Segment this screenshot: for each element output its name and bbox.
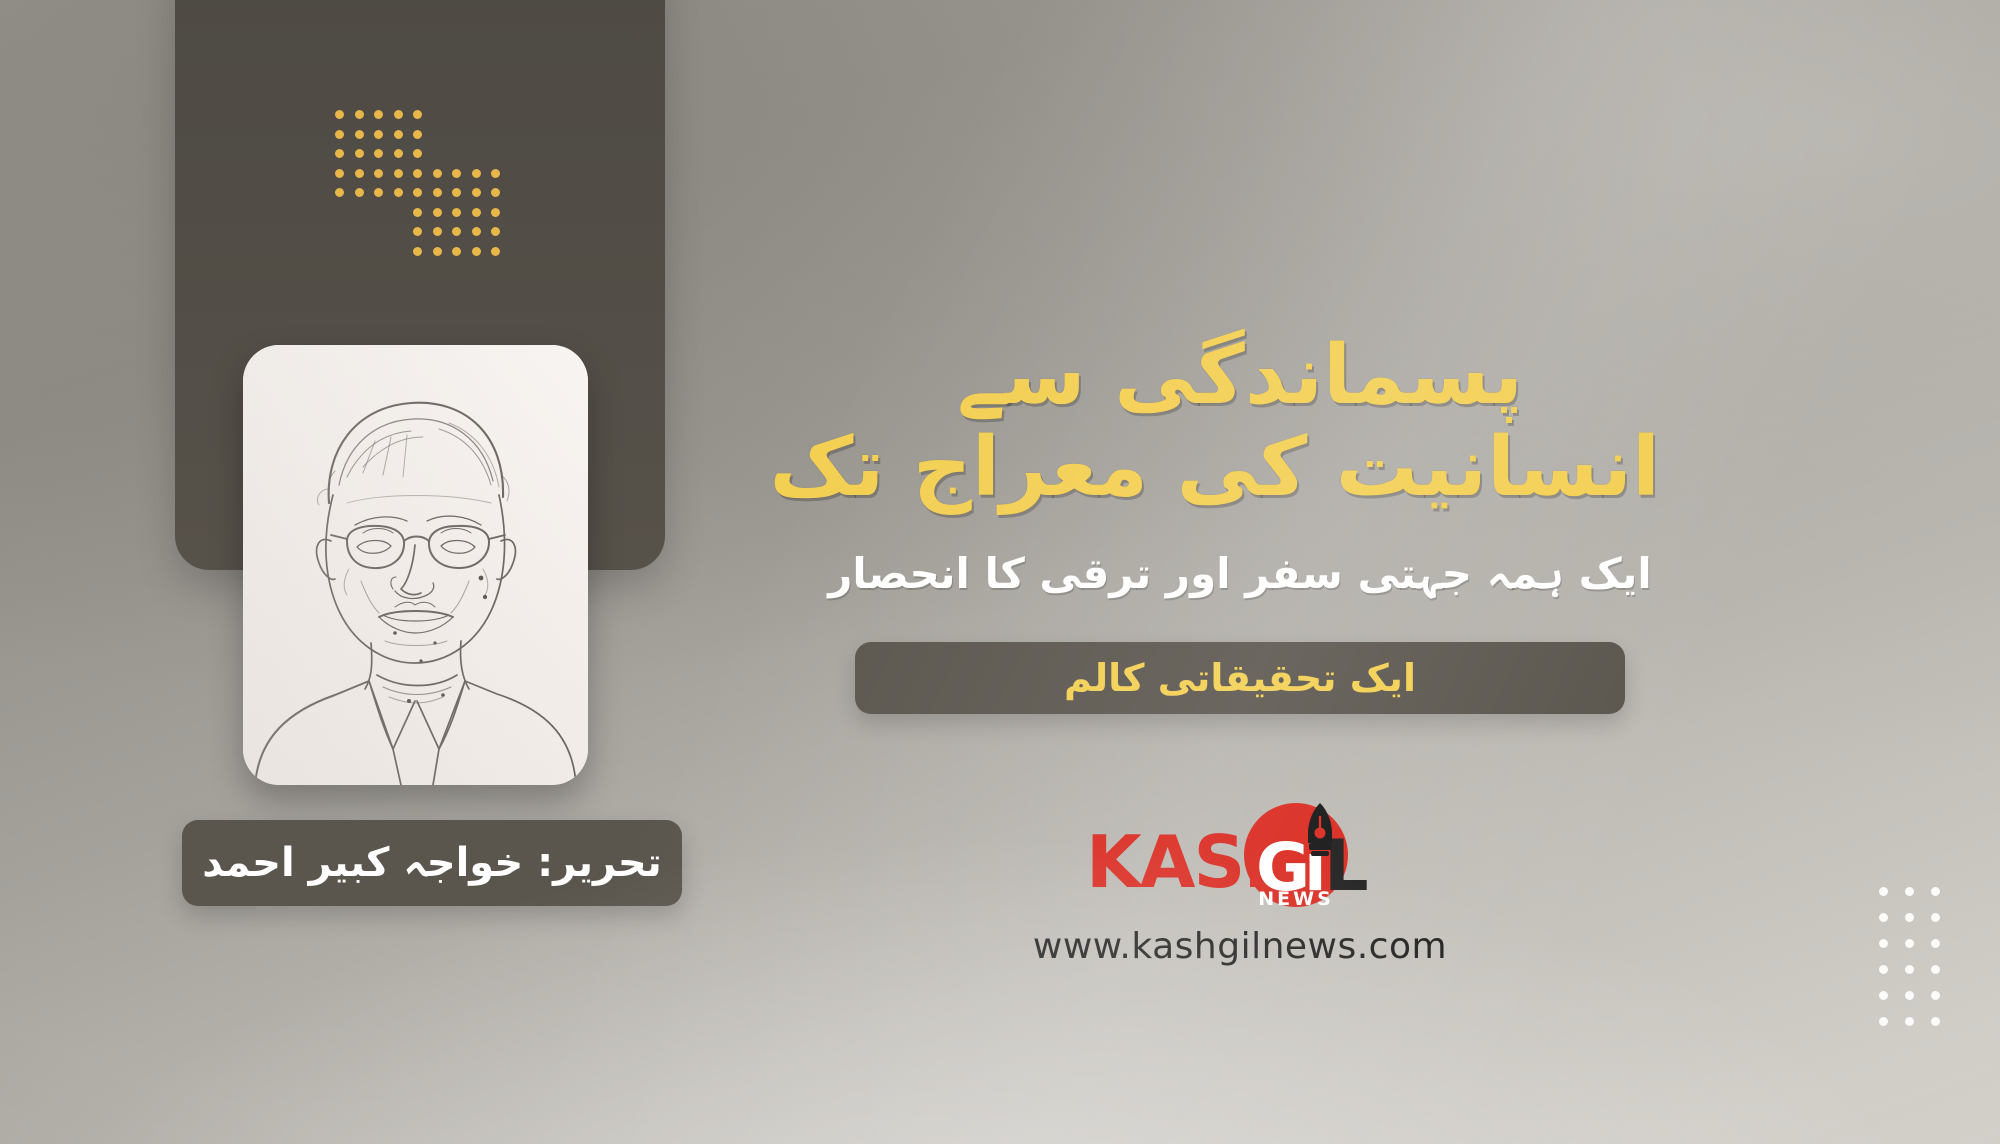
dot: [335, 149, 344, 158]
headline-column: پسماندگی سے انسانیت کی معراج تک ایک ہمہ …: [820, 330, 1660, 714]
headline-line-2: انسانیت کی معراج تک: [820, 422, 1660, 514]
dot: [335, 227, 344, 236]
dot: [374, 149, 383, 158]
dot: [452, 169, 461, 178]
dot: [452, 247, 461, 256]
dot: [1905, 913, 1914, 922]
dot: [413, 130, 422, 139]
dot: [1931, 965, 1940, 974]
dot: [355, 247, 364, 256]
column-type-badge: ایک تحقیقاتی کالم: [855, 642, 1625, 714]
dot: [472, 169, 481, 178]
dot: [491, 247, 500, 256]
dot: [374, 110, 383, 119]
dot: [1905, 965, 1914, 974]
author-portrait-sketch: [243, 345, 588, 785]
dot: [491, 149, 500, 158]
dot: [452, 149, 461, 158]
dot: [1931, 913, 1940, 922]
dot: [472, 130, 481, 139]
author-byline-text: تحریر: خواجہ کبیر احمد: [202, 843, 662, 883]
dot: [1905, 991, 1914, 1000]
dot: [1905, 887, 1914, 896]
dot: [452, 227, 461, 236]
dot: [394, 208, 403, 217]
dot: [355, 208, 364, 217]
dot: [1879, 913, 1888, 922]
dot: [433, 247, 442, 256]
dot: [374, 208, 383, 217]
dot: [413, 169, 422, 178]
dot: [452, 110, 461, 119]
dot: [1905, 939, 1914, 948]
kashgil-logo-mark: KASH G i L NEWS: [1080, 795, 1400, 920]
dot: [355, 149, 364, 158]
dot: [335, 208, 344, 217]
dot: [1879, 939, 1888, 948]
dot: [355, 110, 364, 119]
dot: [452, 208, 461, 217]
dot: [394, 130, 403, 139]
dot: [355, 227, 364, 236]
dot: [374, 130, 383, 139]
dot: [394, 188, 403, 197]
dot: [1879, 887, 1888, 896]
dot: [452, 188, 461, 197]
dot: [433, 227, 442, 236]
dot: [413, 208, 422, 217]
dot: [355, 188, 364, 197]
dot: [394, 227, 403, 236]
dot: [374, 188, 383, 197]
dot: [491, 208, 500, 217]
dot: [394, 149, 403, 158]
dot: [394, 110, 403, 119]
dot: [394, 169, 403, 178]
dot: [1931, 991, 1940, 1000]
dot: [335, 130, 344, 139]
dot: [472, 188, 481, 197]
dot: [355, 130, 364, 139]
dot: [491, 169, 500, 178]
subtitle-text: ایک ہمہ جہتی سفر اور ترقی کا انحصار: [820, 548, 1660, 601]
author-portrait-card: [243, 345, 588, 785]
dot: [355, 169, 364, 178]
page-title: پسماندگی سے انسانیت کی معراج تک: [820, 330, 1660, 514]
dot: [472, 110, 481, 119]
svg-text:NEWS: NEWS: [1258, 888, 1334, 910]
dot: [413, 110, 422, 119]
dot: [1879, 991, 1888, 1000]
dot: [374, 227, 383, 236]
dot: [1931, 939, 1940, 948]
dot: [491, 188, 500, 197]
dot: [433, 208, 442, 217]
white-dot-grid-decor: [1870, 878, 1948, 1034]
dot: [335, 188, 344, 197]
dot: [433, 149, 442, 158]
dot: [1931, 1017, 1940, 1026]
dot: [374, 247, 383, 256]
dot: [1879, 1017, 1888, 1026]
dot: [413, 227, 422, 236]
gold-dot-grid-decor: [330, 105, 506, 261]
dot: [472, 247, 481, 256]
dot: [413, 149, 422, 158]
dot: [374, 169, 383, 178]
dot: [491, 227, 500, 236]
dot: [433, 169, 442, 178]
kashgil-logo: KASH G i L NEWS: [1020, 795, 1460, 920]
dot: [1905, 1017, 1914, 1026]
dot: [472, 227, 481, 236]
dot: [433, 130, 442, 139]
dot: [452, 130, 461, 139]
dot: [335, 247, 344, 256]
dot: [491, 110, 500, 119]
headline-line-1: پسماندگی سے: [820, 330, 1660, 422]
author-byline-pill: تحریر: خواجہ کبیر احمد: [182, 820, 682, 906]
column-type-label: ایک تحقیقاتی کالم: [1064, 659, 1416, 697]
dot: [413, 188, 422, 197]
dot: [335, 169, 344, 178]
brand-block: KASH G i L NEWS www.kashgilnews.com: [1020, 795, 1460, 967]
website-url[interactable]: www.kashgilnews.com: [1020, 926, 1460, 967]
dot: [394, 247, 403, 256]
dot: [433, 188, 442, 197]
dot: [472, 149, 481, 158]
dot: [1879, 965, 1888, 974]
dot: [491, 130, 500, 139]
dot: [335, 110, 344, 119]
dot: [413, 247, 422, 256]
dot: [1931, 887, 1940, 896]
dot: [433, 110, 442, 119]
dot: [472, 208, 481, 217]
poster-canvas: تحریر: خواجہ کبیر احمد پسماندگی سے انسان…: [0, 0, 2000, 1144]
